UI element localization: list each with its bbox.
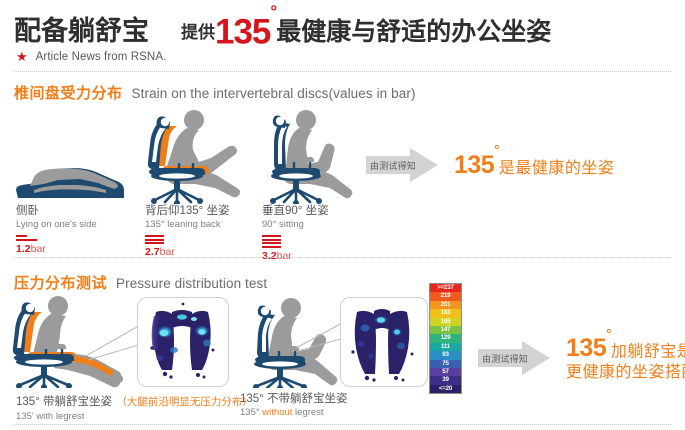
legend-row: 165 [430, 318, 461, 326]
caption-reclined: 背后仰135° 坐姿 135° leaning back 2.7bar [145, 204, 229, 258]
legend-row: 183 [430, 309, 461, 317]
title-sub: 提供 [181, 18, 215, 48]
arrow-icon: 由测试得知 [366, 148, 440, 182]
page-header: 配备躺舒宝 提供 135° 最健康与舒适的办公坐姿 ★ Article News… [0, 0, 685, 72]
legend-row: 111 [430, 343, 461, 351]
caption-with-legrest-en: 135' with legrest [16, 410, 253, 423]
lying-person-illustration [14, 150, 126, 204]
section2-heading: 压力分布测试 Pressure distribution test [14, 272, 267, 293]
caption-without-legrest-cn: 135° 不带躺舒宝坐姿 [240, 392, 347, 406]
caption-with-legrest-cn-row: 135° 带躺舒宝坐姿 （大腿前沿明显无压力分布） [16, 392, 253, 410]
bar-indicator-lying [16, 235, 97, 241]
infographic-page: 配备躺舒宝 提供 135° 最健康与舒适的办公坐姿 ★ Article News… [0, 0, 685, 430]
section2-heading-en: Pressure distribution test [116, 276, 267, 291]
section2-callout: 由测试得知 135°加躺舒宝是 更健康的坐姿搭配 [478, 332, 685, 383]
byline-text: Article News from RSNA. [36, 51, 167, 63]
header-divider [14, 71, 671, 72]
caption-reclined-cn: 背后仰135° 坐姿 [145, 204, 229, 218]
bar-indicator-upright [262, 235, 329, 248]
byline: ★ Article News from RSNA. [16, 50, 166, 63]
arrow-label: 由测试得知 [370, 159, 416, 172]
caption-lying-en: Lying on one's side [16, 218, 97, 231]
pressure-map-without-legrest [340, 297, 428, 387]
arrow-icon: 由测试得知 [478, 341, 552, 375]
section2-callout-text: 135°加躺舒宝是 更健康的坐姿搭配 [566, 332, 685, 383]
section1-divider [14, 257, 671, 258]
star-icon: ★ [16, 50, 28, 63]
section2-callout-degree: 135° [566, 334, 611, 362]
chair-reclined-135-illustration [143, 108, 243, 204]
arrow-label: 由测试得知 [482, 352, 528, 365]
section1-callout-degree: 135° [454, 151, 499, 179]
leader-line-2 [296, 318, 344, 352]
page-title: 配备躺舒宝 提供 135° 最健康与舒适的办公坐姿 [14, 6, 679, 48]
section2-heading-cn: 压力分布测试 [14, 272, 107, 293]
bar-value-upright: 3.2bar [262, 250, 329, 262]
section1-callout-text: 135°是最健康的坐姿 [454, 151, 614, 180]
section1-heading: 椎间盘受力分布 Strain on the intervertebral dis… [14, 82, 416, 103]
legend-row: 93 [430, 351, 461, 359]
title-tail: 最健康与舒适的办公坐姿 [276, 16, 551, 48]
chair-upright-90-illustration [260, 108, 355, 204]
caption-with-legrest-cn: 135° 带躺舒宝坐姿 [16, 396, 112, 408]
caption-without-legrest-en: 135° without legrest [240, 406, 347, 419]
pressure-map-with-legrest [137, 297, 229, 387]
section1-callout-rest: 是最健康的坐姿 [499, 160, 615, 177]
legend-row: 147 [430, 326, 461, 334]
legend-row: 57 [430, 368, 461, 376]
leader-line-1 [86, 320, 142, 362]
title-main: 配备躺舒宝 [14, 14, 149, 48]
legend-row: <=20 [430, 385, 461, 393]
legend-row: 219 [430, 292, 461, 300]
section1-heading-en: Strain on the intervertebral discs(value… [132, 86, 416, 101]
bar-value-lying: 1.2bar [16, 243, 97, 255]
legend-row: >=237 [430, 284, 461, 292]
title-degree: 135° [215, 11, 276, 48]
legend-row: 129 [430, 334, 461, 342]
caption-lying-cn: 侧卧 [16, 204, 97, 218]
legend-row: 39 [430, 376, 461, 384]
footer-divider [14, 424, 671, 425]
caption-with-legrest: 135° 带躺舒宝坐姿 （大腿前沿明显无压力分布） 135' with legr… [16, 392, 253, 423]
caption-without-legrest: 135° 不带躺舒宝坐姿 135° without legrest [240, 392, 347, 419]
caption-with-legrest-note: （大腿前沿明显无压力分布） [116, 396, 253, 408]
caption-lying: 侧卧 Lying on one's side 1.2bar [16, 204, 97, 255]
section2-callout-line1: 135°加躺舒宝是 [566, 332, 685, 362]
pressure-color-scale: >=237 219 201 183 165 147 129 111 93 75 … [429, 283, 462, 394]
section1-callout: 由测试得知 135°是最健康的坐姿 [366, 148, 614, 182]
bar-indicator-reclined [145, 235, 229, 244]
section2-callout-line2: 更健康的坐姿搭配 [566, 362, 685, 383]
caption-reclined-en: 135° leaning back [145, 218, 229, 231]
caption-upright-en: 90° sitting [262, 218, 329, 231]
caption-upright-cn: 垂直90° 坐姿 [262, 204, 329, 218]
section1-heading-cn: 椎间盘受力分布 [14, 82, 123, 103]
caption-upright: 垂直90° 坐姿 90° sitting 3.2bar [262, 204, 329, 262]
legend-row: 201 [430, 301, 461, 309]
legend-row: 75 [430, 360, 461, 368]
section2-callout-line1-rest: 加躺舒宝是 [611, 343, 685, 360]
